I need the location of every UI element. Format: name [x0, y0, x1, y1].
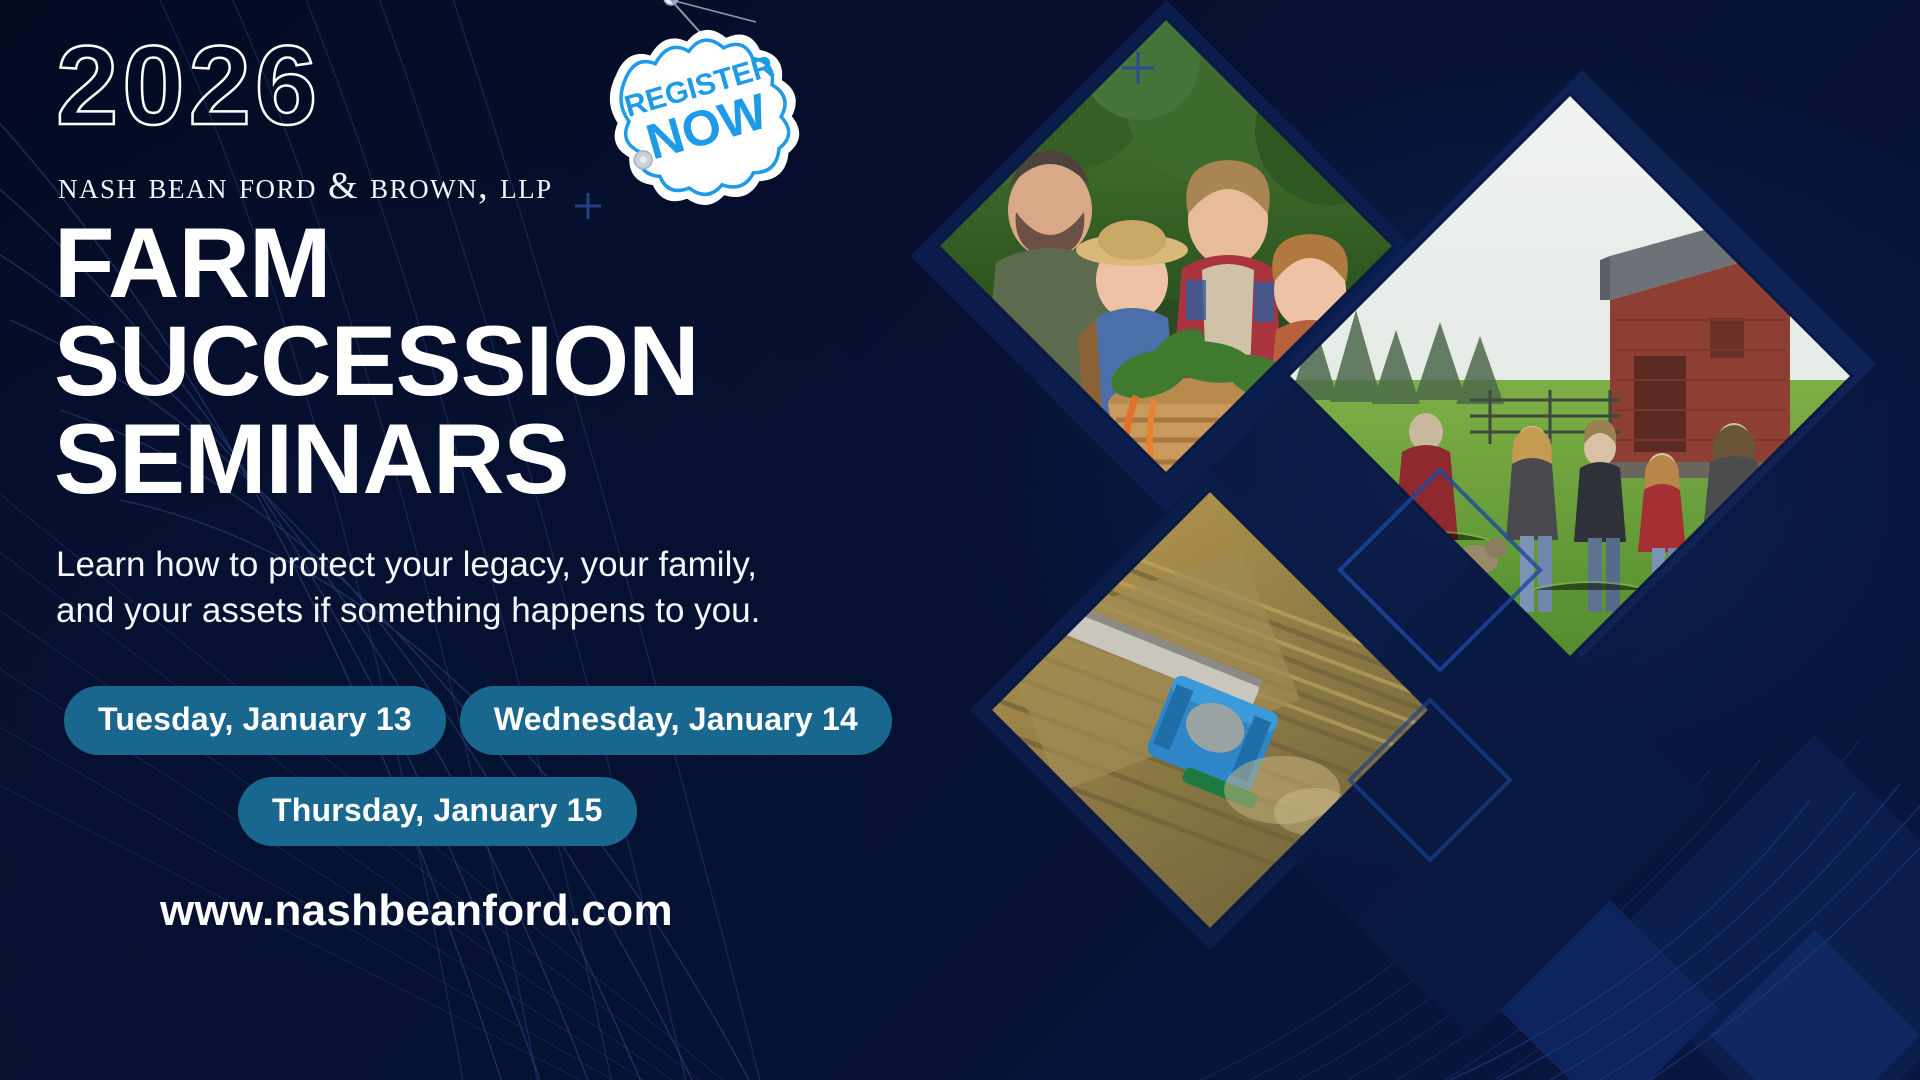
headline-line-2: SUCCESSION — [54, 312, 948, 410]
subtitle-line-1: Learn how to protect your legacy, your f… — [56, 542, 836, 588]
website-url[interactable]: www.nashbeanford.com — [160, 886, 948, 936]
hanging-string — [671, 0, 756, 22]
headline-line-3: SEMINARS — [54, 410, 948, 508]
register-now-badge[interactable]: REGISTER NOW — [588, 0, 818, 222]
subtitle-line-2: and your assets if something happens to … — [56, 588, 836, 634]
date-pill-thursday[interactable]: Thursday, January 15 — [238, 777, 637, 846]
main-headline: FARM SUCCESSION SEMINARS — [54, 214, 948, 508]
date-pill-wednesday[interactable]: Wednesday, January 14 — [460, 686, 892, 755]
date-pill-tuesday[interactable]: Tuesday, January 13 — [64, 686, 446, 755]
photo-red-barn-family — [1280, 60, 1890, 680]
headline-line-1: FARM — [54, 214, 948, 312]
subtitle-text: Learn how to protect your legacy, your f… — [56, 542, 836, 634]
date-pill-row-1: Tuesday, January 13 Wednesday, January 1… — [64, 686, 948, 755]
photo-collage — [910, 0, 1920, 1080]
poster-canvas: REGISTER NOW 2026 Nash Bean Ford & Brown… — [0, 0, 1920, 1080]
date-pill-row-2: Thursday, January 15 — [238, 777, 948, 846]
